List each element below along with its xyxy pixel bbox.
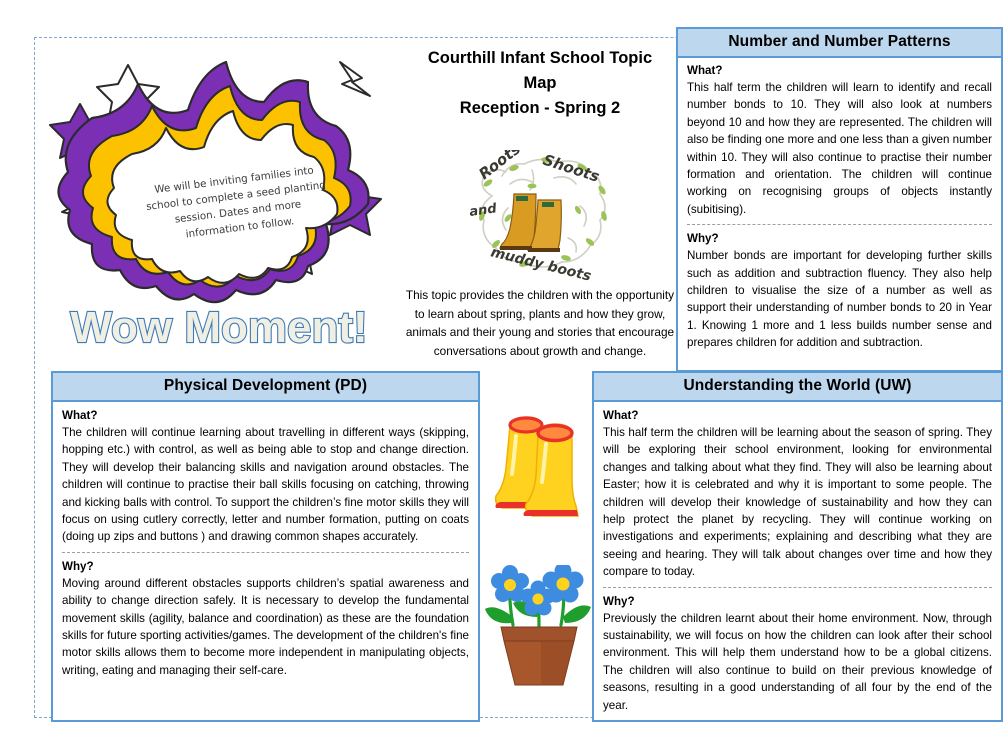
why-label: Why? xyxy=(603,595,992,608)
what-label: What? xyxy=(603,409,992,422)
panel-body-understanding-the-world: What? This half term the children will b… xyxy=(594,402,1001,718)
panel-body-physical-development: What? The children will continue learnin… xyxy=(53,402,478,683)
roots-shoots-logo: Roots Shoots and muddy boots xyxy=(462,150,622,282)
roots-shoots-logo-svg: Roots Shoots and muddy boots xyxy=(462,150,622,282)
section-divider xyxy=(62,552,469,553)
why-label: Why? xyxy=(62,560,469,573)
boot-back-rim xyxy=(510,418,542,432)
panel-physical-development: Physical Development (PD) What? The chil… xyxy=(51,371,480,722)
panel-number-and-number-patterns: Number and Number Patterns What? This ha… xyxy=(676,27,1003,372)
what-text: This half term the children will learn t… xyxy=(687,79,992,218)
panel-header-number: Number and Number Patterns xyxy=(678,29,1001,58)
document-title-block: Courthill Infant School Topic Map Recept… xyxy=(404,46,676,121)
topic-description: This topic provides the children with th… xyxy=(404,286,676,360)
what-label: What? xyxy=(62,409,469,422)
logo-word-and: and xyxy=(468,201,498,220)
why-text: Previously the children learnt about the… xyxy=(603,610,992,714)
why-label: Why? xyxy=(687,232,992,245)
pot-shadow xyxy=(541,641,574,685)
flower xyxy=(543,565,584,603)
yellow-wellies-svg xyxy=(492,408,596,538)
page-title-line2: Map xyxy=(524,74,557,92)
welly-boots-illustration xyxy=(500,194,561,252)
panel-understanding-the-world: Understanding the World (UW) What? This … xyxy=(592,371,1003,722)
panel-header-physical-development: Physical Development (PD) xyxy=(53,373,478,402)
pot-rim xyxy=(501,627,577,641)
flower-heads xyxy=(491,565,584,616)
yellow-wellies-graphic xyxy=(492,408,596,538)
section-divider xyxy=(603,587,992,588)
lightning-bolt-icon xyxy=(340,62,370,96)
page-subtitle: Reception - Spring 2 xyxy=(404,96,676,121)
what-text: The children will continue learning abou… xyxy=(62,424,469,546)
why-text: Moving around different obstacles suppor… xyxy=(62,575,469,679)
boot-front-rim xyxy=(538,426,572,441)
panel-header-understanding-the-world: Understanding the World (UW) xyxy=(594,373,1001,402)
flower-pot-svg xyxy=(483,565,595,693)
page-title: Courthill Infant School Topic Map xyxy=(404,46,676,96)
why-text: Number bonds are important for developin… xyxy=(687,247,992,351)
what-label: What? xyxy=(687,64,992,77)
wow-moment-graphic: Wow Moment! We will be inviting families… xyxy=(40,44,398,360)
wow-moment-caption: Wow Moment! xyxy=(70,303,367,352)
section-divider xyxy=(687,224,992,225)
flower-pot-graphic xyxy=(483,565,595,693)
page-title-line1: Courthill Infant School Topic xyxy=(428,49,652,67)
panel-body-number: What? This half term the children will l… xyxy=(678,58,1001,356)
what-text: This half term the children will be lear… xyxy=(603,424,992,581)
boot-front-sole xyxy=(524,510,579,516)
